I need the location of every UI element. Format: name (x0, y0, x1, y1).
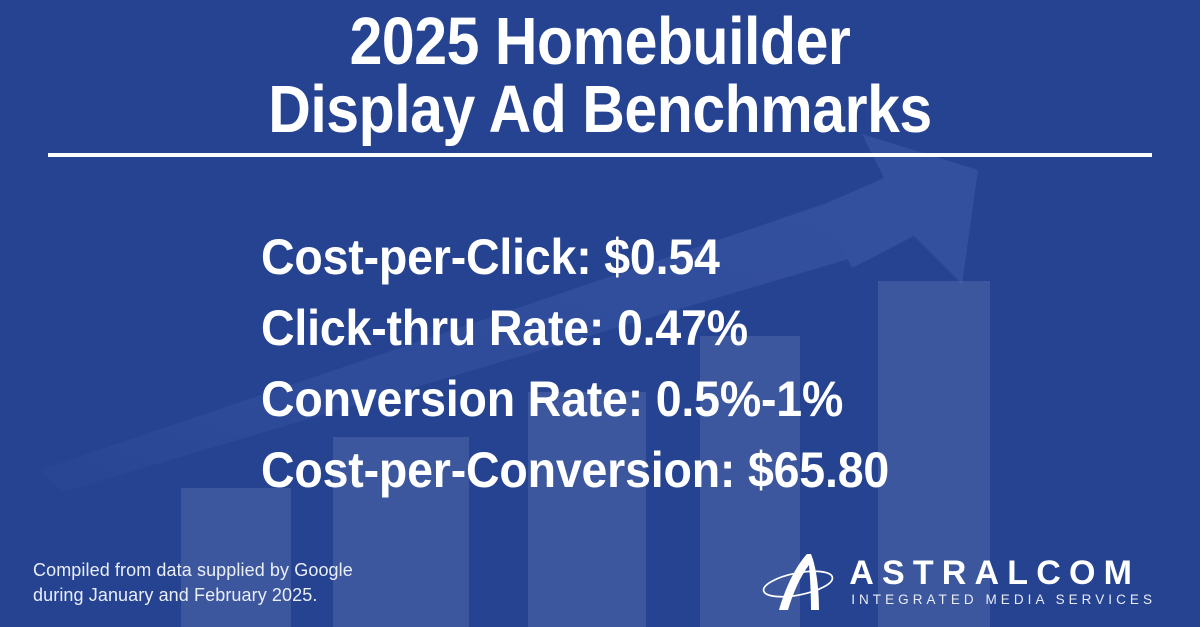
logo-tagline: INTEGRATED MEDIA SERVICES (849, 591, 1156, 609)
logo-text-group: ASTRALCOM INTEGRATED MEDIA SERVICES (849, 555, 1156, 609)
title-line-2: Display Ad Benchmarks (72, 76, 1128, 144)
infographic-canvas: 2025 Homebuilder Display Ad Benchmarks C… (0, 0, 1200, 627)
source-caption: Compiled from data supplied by Google du… (33, 558, 353, 608)
astralcom-orbit-a-icon (761, 551, 835, 613)
stat-line-click-thru-rate: Click-thru Rate: 0.47% (261, 293, 889, 364)
astralcom-logo: ASTRALCOM INTEGRATED MEDIA SERVICES (761, 551, 1156, 613)
title-divider-rule (48, 153, 1152, 157)
stat-line-cost-per-conversion: Cost-per-Conversion: $65.80 (261, 435, 889, 506)
logo-wordmark: ASTRALCOM (849, 555, 1156, 591)
stat-line-conversion-rate: Conversion Rate: 0.5%-1% (261, 364, 889, 435)
title-line-1: 2025 Homebuilder (72, 8, 1128, 76)
source-caption-line-2: during January and February 2025. (33, 583, 353, 608)
source-caption-line-1: Compiled from data supplied by Google (33, 558, 353, 583)
benchmark-stats-list: Cost-per-Click: $0.54 Click-thru Rate: 0… (261, 222, 936, 506)
page-title: 2025 Homebuilder Display Ad Benchmarks (0, 8, 1200, 144)
stat-line-cost-per-click: Cost-per-Click: $0.54 (261, 222, 889, 293)
